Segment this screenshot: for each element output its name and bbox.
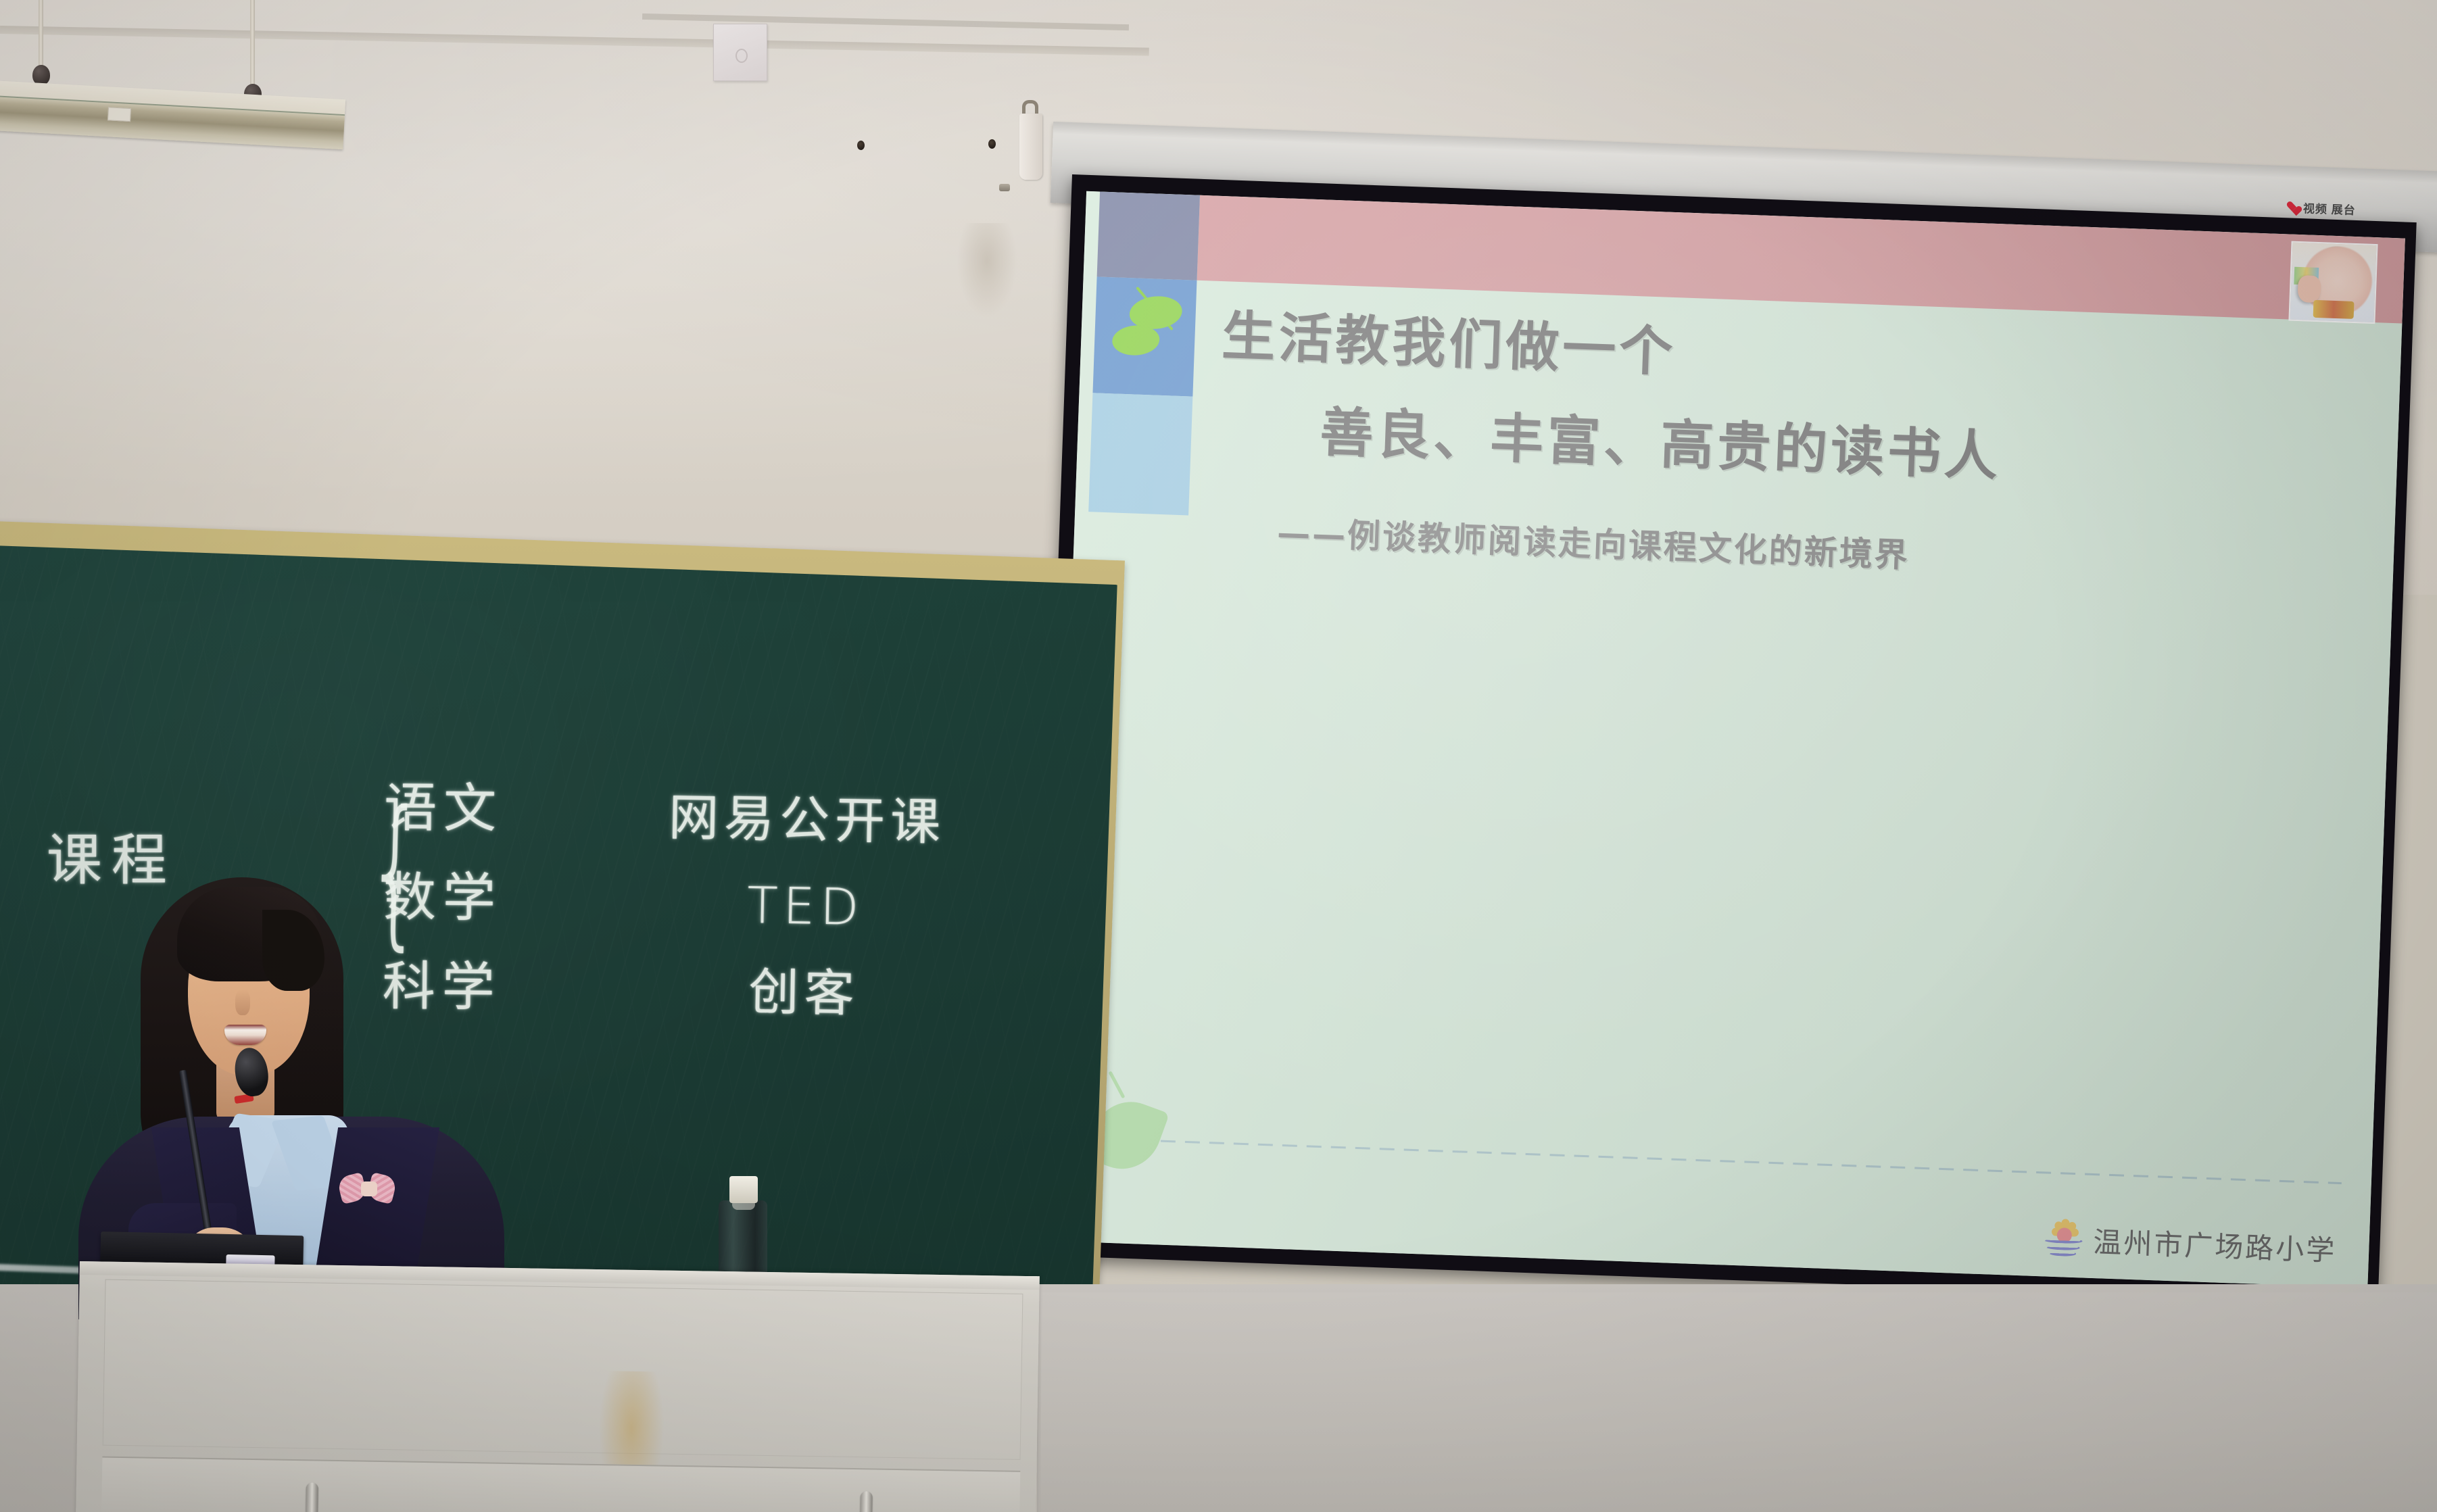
- screen-mount-bracket: [1019, 114, 1042, 180]
- screen-surface: 生活教我们做一个 善良、丰富、高贵的读书人 ——例谈教师阅读走向课程文化的新境界: [1049, 191, 2405, 1288]
- leaf-pair-icon: [1111, 293, 1195, 384]
- photo-baby-bib: [2313, 300, 2355, 319]
- leaf-lower: [1111, 324, 1161, 357]
- light-hanger-rod-left: [39, 0, 43, 68]
- slide-title-block: 生活教我们做一个 善良、丰富、高贵的读书人 ——例谈教师阅读走向课程文化的新境界: [1209, 292, 2371, 593]
- hair-front: [177, 887, 322, 981]
- wall-hole-left: [857, 141, 865, 150]
- case-brand-logo: 视频 展台: [2286, 198, 2357, 218]
- drawer-handle-right[interactable]: [860, 1491, 873, 1512]
- heart-icon: [2286, 201, 2299, 213]
- presenter: [101, 825, 480, 1298]
- slide-block-light-blue: [1088, 393, 1192, 515]
- school-logo-text: 温州市广场路小学: [2092, 1219, 2337, 1269]
- light-hanger-rod-right: [250, 0, 255, 87]
- case-brand-text: 视频 展台: [2303, 199, 2357, 218]
- mouth: [224, 1025, 266, 1045]
- fixture-label: [107, 107, 131, 122]
- wall-screw: [999, 184, 1010, 191]
- podium-front-panel: [103, 1279, 1023, 1460]
- classroom-scene: 视频 展台 生活教我们做: [0, 0, 2437, 1512]
- drawer-handle-left[interactable]: [306, 1482, 318, 1512]
- slide-title-line-2: 善良、丰富、高贵的读书人: [1319, 388, 2367, 503]
- school-logo: 温州市广场路小学: [2040, 1217, 2338, 1269]
- slide-block-slate: [1097, 191, 1200, 280]
- electrical-junction-box: [713, 24, 767, 81]
- wall-hole-right: [988, 139, 996, 149]
- bow-brooch: [339, 1175, 399, 1207]
- bottle-cap: [729, 1176, 758, 1203]
- projection-screen[interactable]: 生活教我们做一个 善良、丰富、高贵的读书人 ——例谈教师阅读走向课程文化的新境界: [1034, 174, 2417, 1303]
- wall-plaster-patch: [957, 223, 1017, 318]
- chalk-resource-column: 网易公开课 TED 创客: [665, 775, 946, 1039]
- podium: [76, 1261, 1040, 1512]
- slide-canvas: 生活教我们做一个 善良、丰富、高贵的读书人 ——例谈教师阅读走向课程文化的新境界: [1049, 191, 2405, 1288]
- lower-wall-right: [1041, 1292, 2437, 1512]
- ceiling-edge-line: [0, 26, 1149, 56]
- photo-baby-hand: [2297, 275, 2321, 303]
- water-wave-icon: [2043, 1237, 2083, 1257]
- slide-subtitle: ——例谈教师阅读走向课程文化的新境界: [1276, 506, 2363, 593]
- baby-photo: [2288, 241, 2378, 324]
- dotted-rule: [1161, 1140, 2342, 1185]
- water-bottle[interactable]: [719, 1200, 767, 1276]
- school-logo-mark: [2040, 1217, 2086, 1260]
- podium-drawer[interactable]: [101, 1457, 1020, 1512]
- nose: [235, 990, 250, 1015]
